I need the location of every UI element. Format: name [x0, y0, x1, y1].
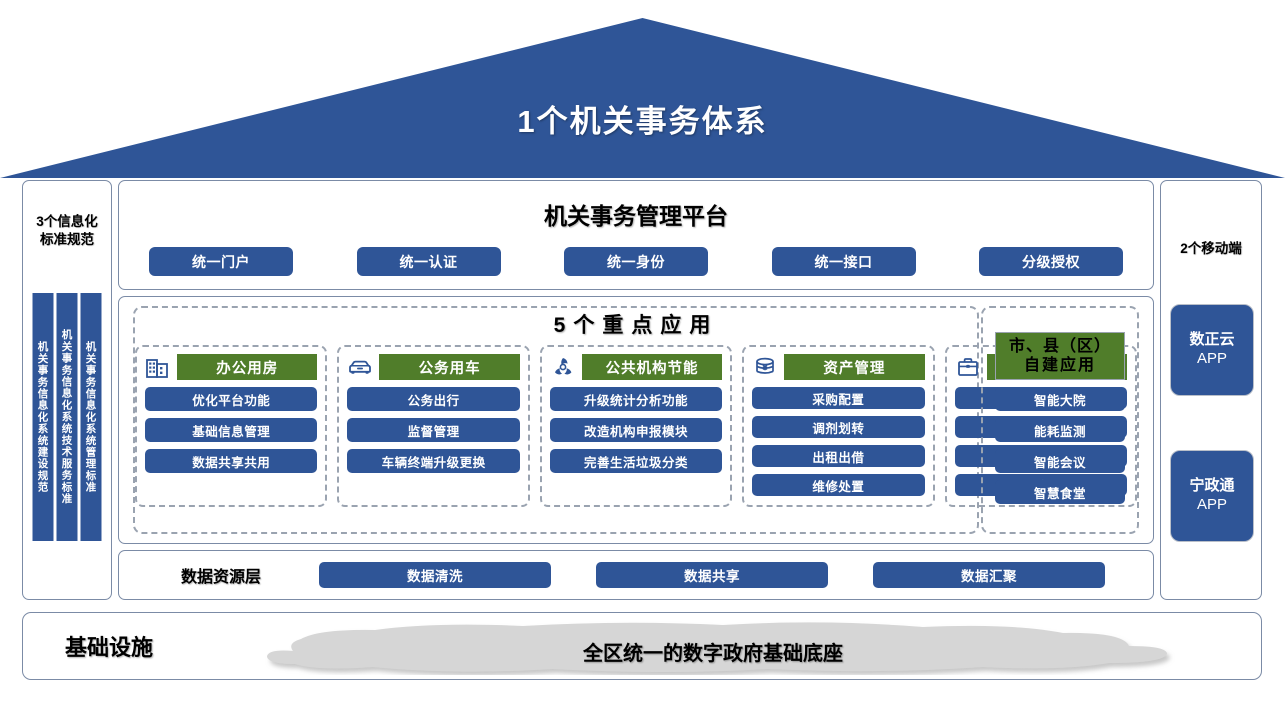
management-platform-panel: 机关事务管理平台 统一门户 统一认证 统一身份 统一接口 分级授权	[118, 180, 1154, 290]
data-resource-layer-title: 数据资源层	[181, 563, 261, 587]
recycle-icon	[550, 354, 576, 380]
app-header-office-housing: 办公用房	[145, 354, 317, 380]
app-item-asset-management-0[interactable]: 采购配置	[752, 387, 924, 409]
architecture-diagram: 1个机关事务体系 3个信息化 标准规范 机关事务信息化系统建设规范 机关事务信息…	[0, 0, 1285, 702]
self-built-title-line2: 自建应用	[1024, 356, 1096, 375]
app-item-official-vehicles-0[interactable]: 公务出行	[347, 387, 519, 411]
app-column-public-energy-saving: 公共机构节能 升级统计分析功能 改造机构申报模块 完善生活垃圾分类	[540, 345, 732, 507]
platform-button-unified-identity[interactable]: 统一身份	[564, 247, 708, 276]
platform-title: 机关事务管理平台	[119, 197, 1153, 231]
mobile-app-name-1: 宁政通	[1189, 477, 1234, 496]
app-header-official-vehicles: 公务用车	[347, 354, 519, 380]
app-item-office-housing-2[interactable]: 数据共享共用	[145, 449, 317, 473]
mobile-terminals-panel: 2个移动端 数正云 APP 宁政通 APP	[1160, 180, 1262, 600]
app-header-public-energy-saving: 公共机构节能	[550, 354, 722, 380]
standards-bar-group: 机关事务信息化系统建设规范 机关事务信息化系统技术服务标准 机关事务信息化系统管…	[33, 293, 102, 541]
mobile-terminals-title: 2个移动端	[1161, 237, 1261, 257]
self-built-item-3[interactable]: 智慧食堂	[995, 480, 1125, 504]
coin-stack-icon	[752, 354, 778, 380]
self-built-title-line1: 市、县（区）	[1009, 337, 1111, 356]
car-icon	[347, 354, 373, 380]
data-resource-button-group: 数据清洗 数据共享 数据汇聚	[319, 562, 1105, 588]
app-item-public-energy-saving-0[interactable]: 升级统计分析功能	[550, 387, 722, 411]
briefcase-icon	[955, 354, 981, 380]
cloud-label: 全区统一的数字政府基础底座	[223, 637, 1203, 666]
cloud-shape: 全区统一的数字政府基础底座	[223, 619, 1203, 675]
roof-title: 1个机关事务体系	[0, 96, 1285, 141]
mobile-app-tile-ningzhengtong[interactable]: 宁政通 APP	[1170, 450, 1254, 542]
key-applications-panel: 5个重点应用	[118, 296, 1154, 544]
standard-bar-1[interactable]: 机关事务信息化系统技术服务标准	[57, 293, 78, 541]
data-resource-layer-panel: 数据资源层 数据清洗 数据共享 数据汇聚	[118, 550, 1154, 600]
self-built-item-2[interactable]: 智能会议	[995, 449, 1125, 473]
platform-button-unified-portal[interactable]: 统一门户	[149, 247, 293, 276]
standards-title-line2: 标准规范	[23, 231, 111, 249]
app-item-office-housing-1[interactable]: 基础信息管理	[145, 418, 317, 442]
app-column-office-housing: 办公用房 优化平台功能 基础信息管理 数据共享共用	[135, 345, 327, 507]
office-building-icon	[145, 354, 171, 380]
self-built-applications-column: 市、县（区） 自建应用 智能大院 能耗监测 智能会议 智慧食堂	[981, 306, 1139, 534]
infrastructure-title: 基础设施	[65, 630, 153, 662]
standards-panel-title: 3个信息化 标准规范	[23, 213, 111, 249]
app-item-office-housing-0[interactable]: 优化平台功能	[145, 387, 317, 411]
platform-button-group: 统一门户 统一认证 统一身份 统一接口 分级授权	[149, 247, 1123, 276]
app-item-official-vehicles-1[interactable]: 监督管理	[347, 418, 519, 442]
data-button-sharing[interactable]: 数据共享	[596, 562, 828, 588]
standards-title-line1: 3个信息化	[23, 213, 111, 231]
app-item-asset-management-3[interactable]: 维修处置	[752, 474, 924, 496]
app-item-official-vehicles-2[interactable]: 车辆终端升级更换	[347, 449, 519, 473]
standard-bar-0[interactable]: 机关事务信息化系统建设规范	[33, 293, 54, 541]
infrastructure-panel: 基础设施 全区统一的数字政府基础底座	[22, 612, 1262, 680]
standards-panel: 3个信息化 标准规范 机关事务信息化系统建设规范 机关事务信息化系统技术服务标准…	[22, 180, 112, 600]
data-button-aggregation[interactable]: 数据汇聚	[873, 562, 1105, 588]
self-built-item-1[interactable]: 能耗监测	[995, 418, 1125, 442]
app-item-public-energy-saving-1[interactable]: 改造机构申报模块	[550, 418, 722, 442]
app-item-asset-management-1[interactable]: 调剂划转	[752, 416, 924, 438]
app-header-asset-management: 资产管理	[752, 354, 924, 380]
data-button-cleaning[interactable]: 数据清洗	[319, 562, 551, 588]
self-built-applications-title: 市、县（区） 自建应用	[995, 332, 1125, 380]
standard-bar-2[interactable]: 机关事务信息化系统管理标准	[81, 293, 102, 541]
platform-button-unified-auth[interactable]: 统一认证	[357, 247, 501, 276]
app-title-official-vehicles: 公务用车	[379, 354, 519, 380]
app-column-official-vehicles: 公务用车 公务出行 监督管理 车辆终端升级更换	[337, 345, 529, 507]
app-item-asset-management-2[interactable]: 出租出借	[752, 445, 924, 467]
mobile-app-suffix-1: APP	[1197, 496, 1227, 515]
platform-button-tiered-authorization[interactable]: 分级授权	[979, 247, 1123, 276]
app-column-asset-management: 资产管理 采购配置 调剂划转 出租出借 维修处置	[742, 345, 934, 507]
app-title-asset-management: 资产管理	[784, 354, 924, 380]
platform-button-unified-interface[interactable]: 统一接口	[772, 247, 916, 276]
mobile-app-name-0: 数正云	[1189, 331, 1234, 350]
mobile-app-tile-shuzhengyun[interactable]: 数正云 APP	[1170, 304, 1254, 396]
mobile-app-suffix-0: APP	[1197, 350, 1227, 369]
app-title-public-energy-saving: 公共机构节能	[582, 354, 722, 380]
app-item-public-energy-saving-2[interactable]: 完善生活垃圾分类	[550, 449, 722, 473]
app-title-office-housing: 办公用房	[177, 354, 317, 380]
self-built-item-0[interactable]: 智能大院	[995, 387, 1125, 411]
